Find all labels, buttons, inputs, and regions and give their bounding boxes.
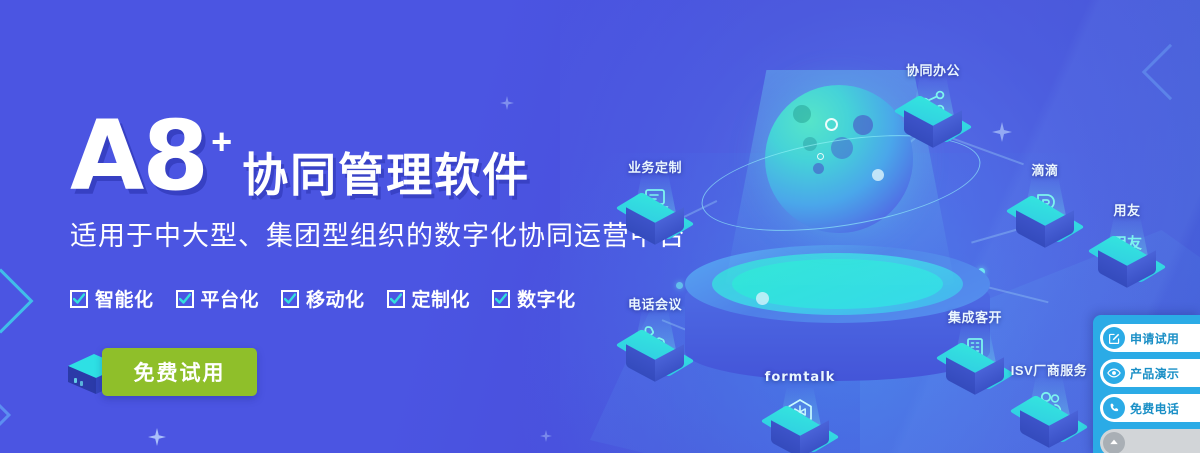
phone-icon [1103,397,1125,419]
side-item-label: 产品演示 [1130,365,1179,382]
feature-label: 智能化 [95,285,154,312]
feature-item: 定制化 [387,285,471,312]
node-label: 滴滴 [980,160,1110,179]
hero-banner: A8 + 协同管理软件 适用于中大型、集团型组织的数字化协同运营中台 智能化 平… [0,0,1200,453]
floating-dot [756,292,769,305]
side-item-product-demo[interactable]: 产品演示 [1100,359,1200,387]
node-business-customization[interactable]: 业务定制 [618,175,692,249]
node-label: 业务定制 [590,157,720,176]
eye-icon [1103,362,1125,384]
side-item-apply-trial[interactable]: 申请试用 [1100,324,1200,352]
node-label: 用友 [1062,200,1192,219]
node-phone-conference[interactable]: 电话会议 [618,312,692,386]
brand-superscript: + [211,124,232,160]
sphere-crater [793,105,811,123]
side-item-back-to-top[interactable] [1100,429,1200,453]
check-icon [387,290,405,308]
check-icon [70,290,88,308]
feature-item: 平台化 [176,285,260,312]
node-label: 协同办公 [868,60,998,79]
feature-label: 定制化 [412,285,471,312]
side-item-label: 免费电话 [1130,400,1179,417]
node-label: formtalk [735,370,865,385]
quick-action-panel: 申请试用 产品演示 免费电话 [1093,315,1200,453]
brand-subtitle-cn: 协同管理软件 [242,152,530,198]
node-label: 集成客开 [910,307,1040,326]
free-trial-button[interactable]: 免费试用 [102,348,257,396]
node-collaborative-office[interactable]: 协同办公 [896,78,970,152]
node-label: 电话会议 [590,294,720,313]
sphere-crater-ring [825,118,838,131]
check-icon [176,290,194,308]
feature-item: 智能化 [70,285,154,312]
node-yonyou[interactable]: 用友 用友 [1090,218,1164,292]
pencil-square-icon [1103,327,1125,349]
connector-node-dot [676,282,683,289]
check-icon [492,290,510,308]
check-icon [281,290,299,308]
feature-item: 移动化 [281,285,365,312]
feature-label: 移动化 [306,285,365,312]
side-item-free-call[interactable]: 免费电话 [1100,394,1200,422]
brand-title: A8 [70,112,207,200]
sphere-crater [853,115,873,135]
node-isv-vendor-service[interactable]: ISV厂商服务 [1012,378,1086,452]
side-item-label: 申请试用 [1130,330,1179,347]
node-formtalk[interactable]: formtalk [763,388,837,453]
feature-label: 平台化 [201,285,260,312]
up-arrow-icon [1103,432,1125,453]
